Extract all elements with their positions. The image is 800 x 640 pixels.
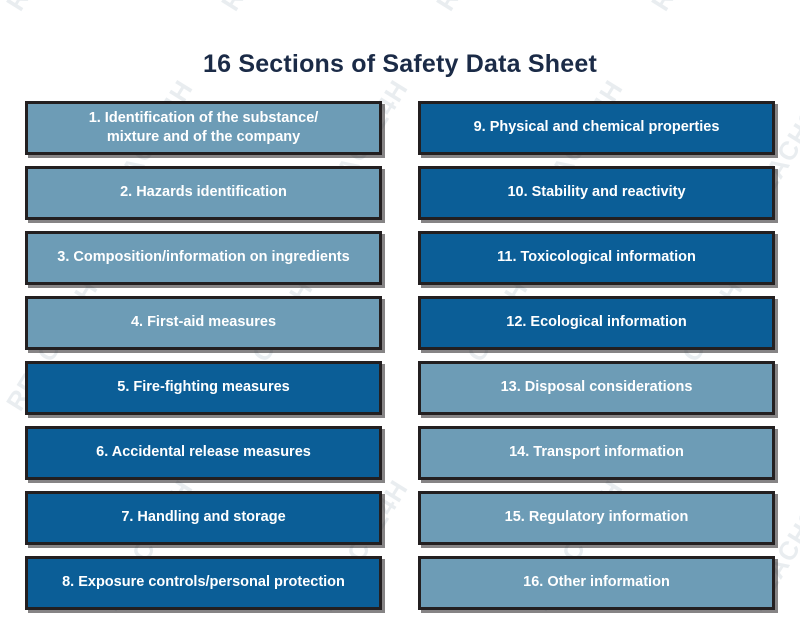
sds-section-box-5[interactable]: 5. Fire-fighting measures: [25, 361, 382, 415]
sds-section-box-7[interactable]: 7. Handling and storage: [25, 491, 382, 545]
sds-section-label: 11. Toxicological information: [497, 248, 696, 267]
sds-section-box-16[interactable]: 16. Other information: [418, 556, 775, 610]
sds-section-label: 9. Physical and chemical properties: [474, 118, 720, 137]
sds-section-box-13[interactable]: 13. Disposal considerations: [418, 361, 775, 415]
sections-column-left: 1. Identification of the substance/ mixt…: [25, 101, 382, 621]
page-title: 16 Sections of Safety Data Sheet: [0, 50, 800, 79]
sds-section-box-4[interactable]: 4. First-aid measures: [25, 296, 382, 350]
sds-section-box-11[interactable]: 11. Toxicological information: [418, 231, 775, 285]
sds-section-box-9[interactable]: 9. Physical and chemical properties: [418, 101, 775, 155]
watermark-text: REACH24H: [0, 0, 105, 16]
sds-section-label: 7. Handling and storage: [121, 508, 285, 527]
sds-section-label: 15. Regulatory information: [505, 508, 689, 527]
sds-section-box-12[interactable]: 12. Ecological information: [418, 296, 775, 350]
sds-section-label: 10. Stability and reactivity: [507, 183, 685, 202]
sds-section-label: 16. Other information: [523, 573, 670, 592]
sds-section-label: 13. Disposal considerations: [501, 378, 693, 397]
sds-section-box-10[interactable]: 10. Stability and reactivity: [418, 166, 775, 220]
sds-section-box-3[interactable]: 3. Composition/information on ingredient…: [25, 231, 382, 285]
watermark-text: REACH24H: [645, 0, 750, 16]
sds-section-label: 8. Exposure controls/personal protection: [62, 573, 345, 592]
diagram-page: 16 Sections of Safety Data Sheet 1. Iden…: [0, 0, 800, 640]
sds-section-box-14[interactable]: 14. Transport information: [418, 426, 775, 480]
sds-section-label: 6. Accidental release measures: [96, 443, 311, 462]
sections-column-right: 9. Physical and chemical properties10. S…: [418, 101, 775, 621]
sds-section-label: 1. Identification of the substance/ mixt…: [89, 109, 319, 148]
sds-section-box-8[interactable]: 8. Exposure controls/personal protection: [25, 556, 382, 610]
sds-section-box-1[interactable]: 1. Identification of the substance/ mixt…: [25, 101, 382, 155]
sds-section-label: 4. First-aid measures: [131, 313, 276, 332]
watermark-text: REACH24H: [430, 0, 535, 16]
sds-section-box-15[interactable]: 15. Regulatory information: [418, 491, 775, 545]
sds-section-box-6[interactable]: 6. Accidental release measures: [25, 426, 382, 480]
sds-section-label: 3. Composition/information on ingredient…: [57, 248, 349, 267]
sds-section-label: 2. Hazards identification: [120, 183, 287, 202]
sds-section-box-2[interactable]: 2. Hazards identification: [25, 166, 382, 220]
sds-section-label: 5. Fire-fighting measures: [117, 378, 289, 397]
watermark-text: REACH24H: [215, 0, 320, 16]
sds-section-label: 14. Transport information: [509, 443, 684, 462]
sds-section-label: 12. Ecological information: [506, 313, 686, 332]
